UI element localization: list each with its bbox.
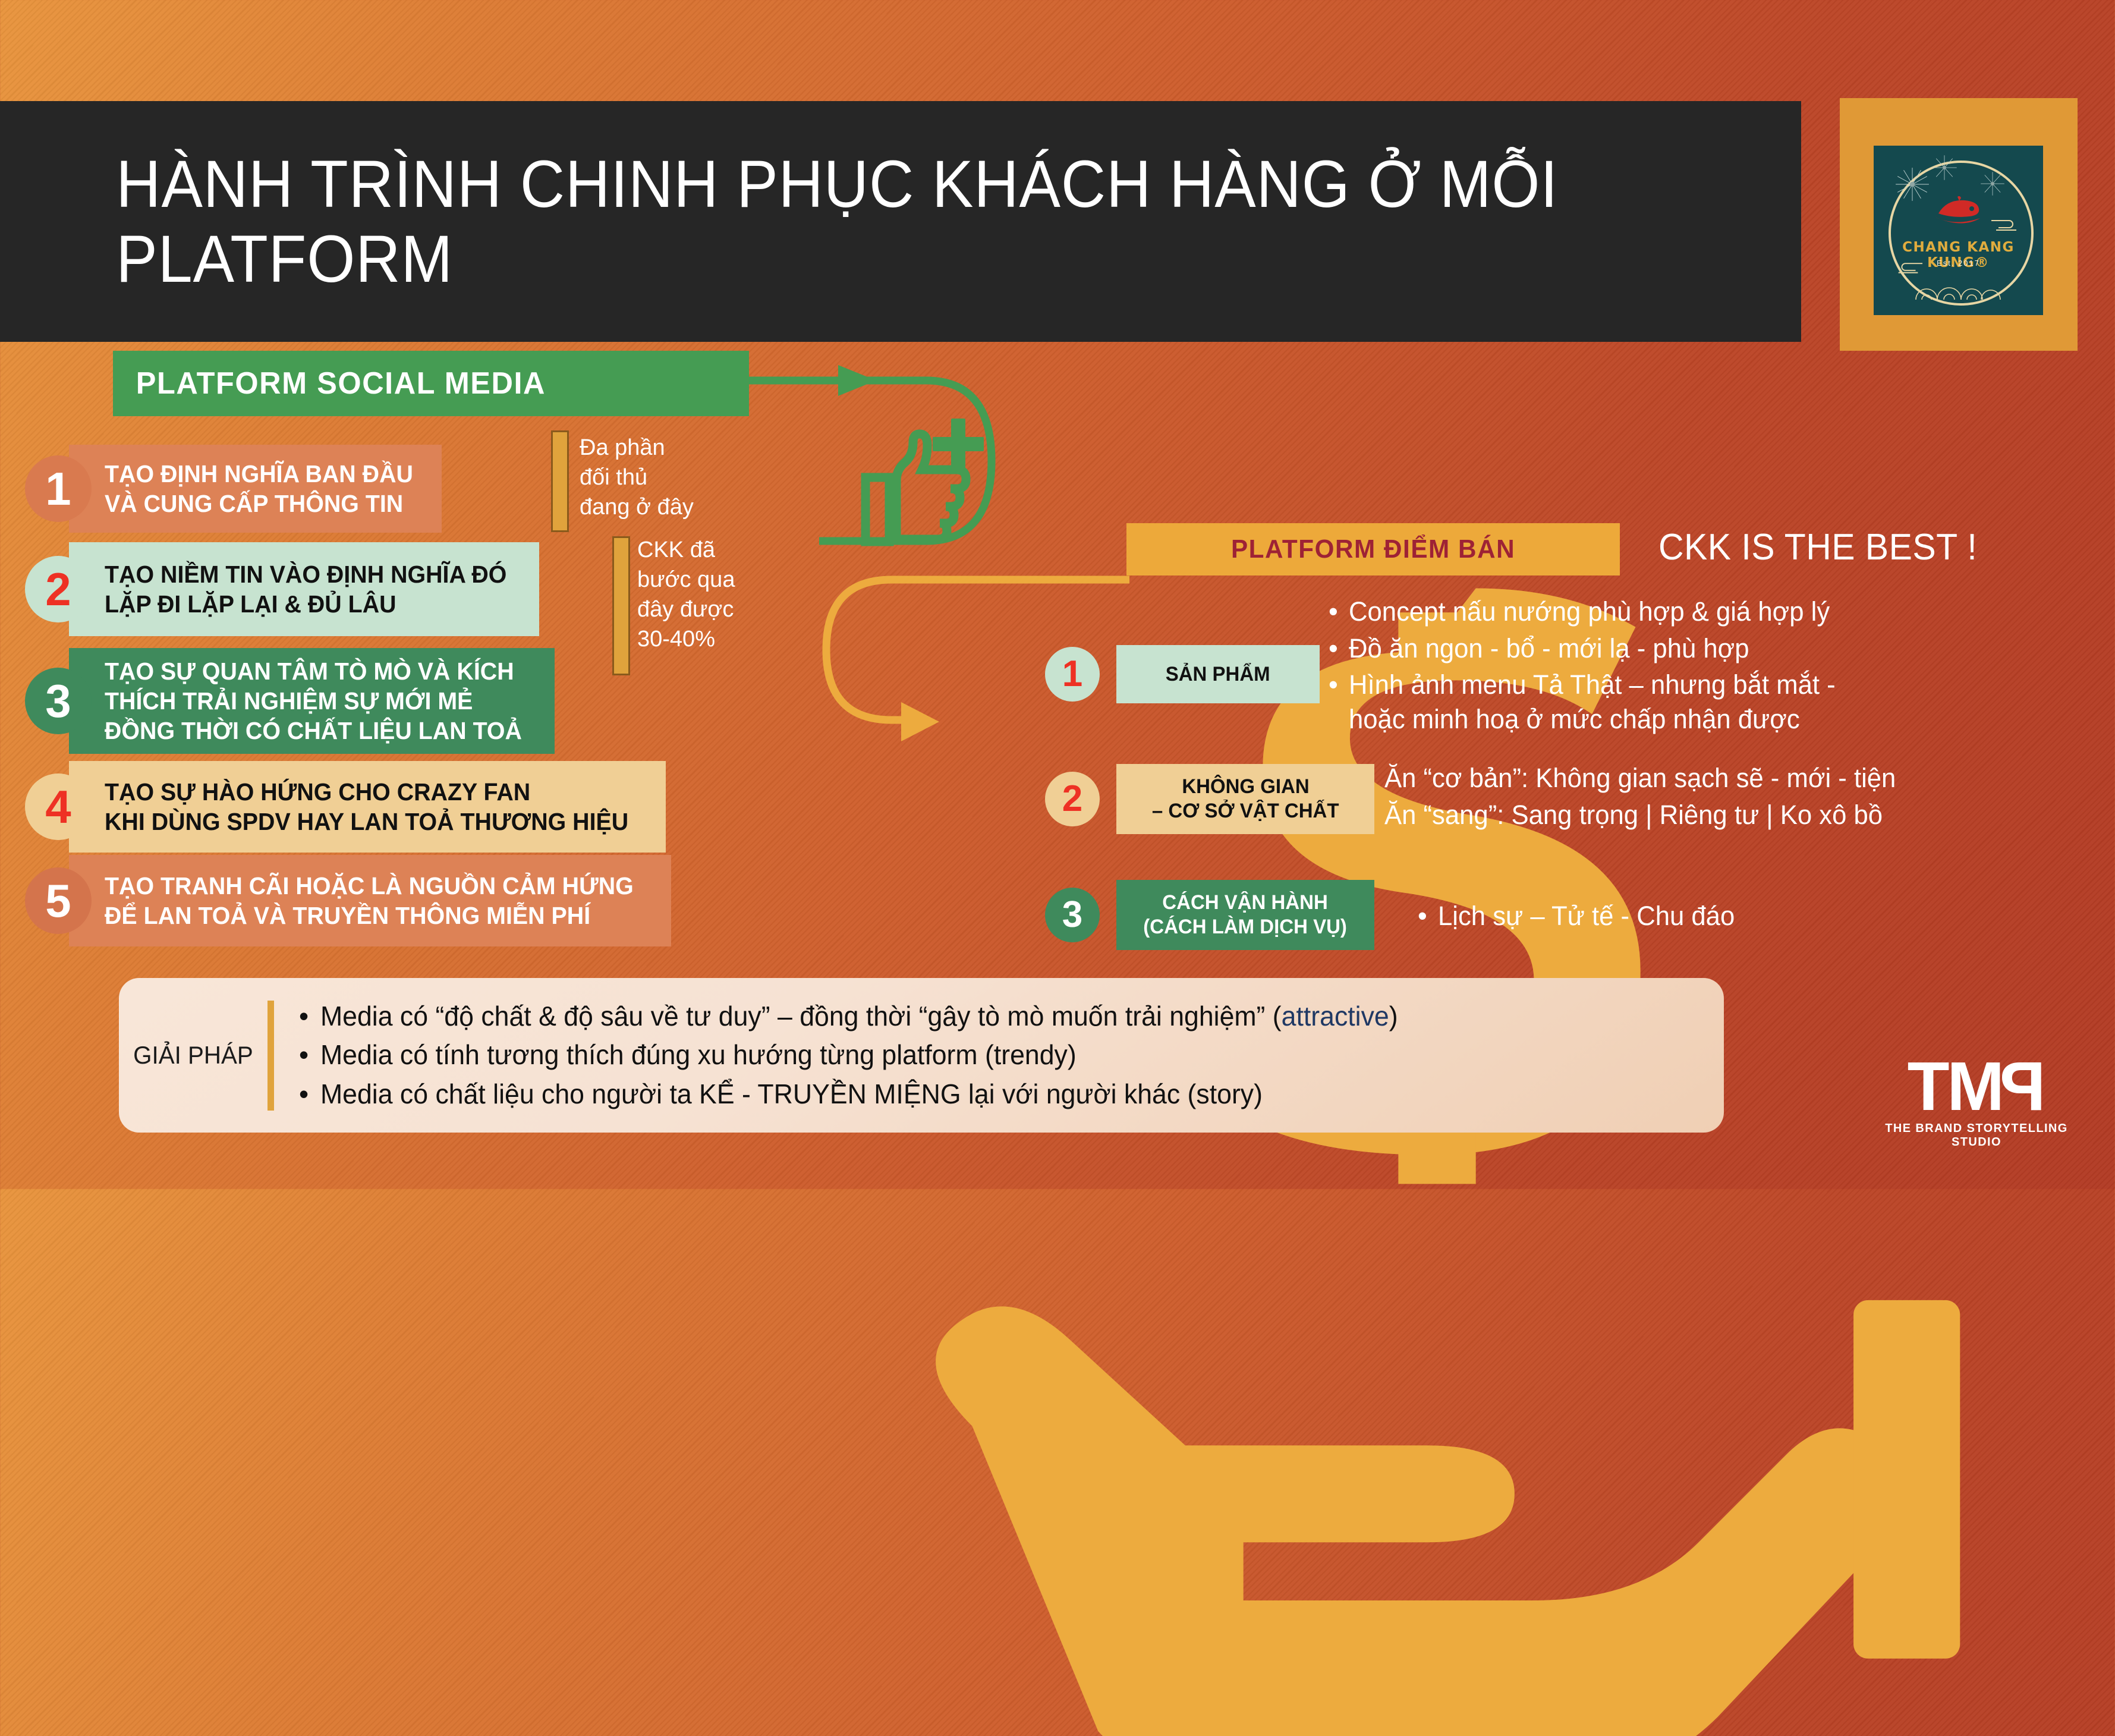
sell-step-2-box: KHÔNG GIAN – CƠ SỞ VẬT CHẤT xyxy=(1116,764,1374,834)
sell-step-3-line-2: (CÁCH LÀM DỊCH VỤ) xyxy=(1144,915,1348,939)
social-step-4-line-2: KHI DÙNG SPDV HAY LAN TOẢ THƯƠNG HIỆU xyxy=(105,807,628,836)
social-step-3-line-3: ĐỒNG THỜI CÓ CHẤT LIỆU LAN TOẢ xyxy=(105,716,522,746)
social-step-4-box: TẠO SỰ HÀO HỨNG CHO CRAZY FAN KHI DÙNG S… xyxy=(69,761,666,853)
social-step-5-line-2: ĐỂ LAN TOẢ VÀ TRUYỀN THÔNG MIỄN PHÍ xyxy=(105,901,634,930)
sell-step-2-line-2: – CƠ SỞ VẬT CHẤT xyxy=(1152,799,1339,823)
sell-step-1[interactable]: 1 SẢN PHẨM xyxy=(1045,645,1320,703)
bullet-dot-icon: • xyxy=(1329,631,1349,666)
list-item: • Đồ ăn ngon - bổ - mới lạ - phù hợp xyxy=(1329,631,1850,666)
firework-burst-icon xyxy=(1894,166,1931,203)
social-step-3-line-2: THÍCH TRẢI NGHIỆM SỰ MỚI MẺ xyxy=(105,686,522,716)
social-step-5-badge: 5 xyxy=(25,867,92,934)
list-item: • Ăn “cơ bản”: Không gian sạch sẽ - mới … xyxy=(1364,761,1912,795)
solution-panel: GIẢI PHÁP • Media có “độ chất & độ sâu v… xyxy=(119,978,1724,1133)
social-step-3[interactable]: 3 TẠO SỰ QUAN TÂM TÒ MÒ VÀ KÍCH THÍCH TR… xyxy=(25,648,555,754)
social-step-4-line-1: TẠO SỰ HÀO HỨNG CHO CRAZY FAN xyxy=(105,777,628,807)
solution-bullet-1-post: ) xyxy=(1389,1001,1398,1031)
note-bar-1 xyxy=(551,430,569,532)
sell-step-2-line-1: KHÔNG GIAN xyxy=(1182,775,1309,799)
sell-step-2[interactable]: 2 KHÔNG GIAN – CƠ SỞ VẬT CHẤT xyxy=(1045,764,1374,834)
solution-bullet-3-text: Media có chất liệu cho người ta KỂ - TRU… xyxy=(320,1078,1263,1109)
note-bar-2 xyxy=(612,536,630,675)
list-item: • Ăn “sang”: Sang trọng | Riêng tư | Ko … xyxy=(1364,798,1912,832)
social-step-1-line-1: TẠO ĐỊNH NGHĨA BAN ĐẦU xyxy=(105,459,413,489)
fish-dish-icon xyxy=(1933,196,1985,229)
sell-step-1-badge: 1 xyxy=(1045,647,1100,702)
social-step-2[interactable]: 2 TẠO NIỀM TIN VÀO ĐỊNH NGHĨA ĐÓ LẶP ĐI … xyxy=(25,542,539,636)
cloud-motif-icon xyxy=(1893,259,1924,275)
sell-bullets-service: • Lịch sự – Tử tế - Chu đáo xyxy=(1418,899,1744,936)
note-text-2: CKK đã bước qua đây được 30-40% xyxy=(637,535,792,655)
solution-label: GIẢI PHÁP xyxy=(122,1041,265,1070)
sell-bullets-product: • Concept nấu nướng phù hợp & giá hợp lý… xyxy=(1329,595,1850,738)
list-item: • Media có chất liệu cho người ta KỂ - T… xyxy=(299,1075,1431,1114)
social-step-2-badge: 2 xyxy=(25,556,92,622)
social-step-1-line-2: VÀ CUNG CẤP THÔNG TIN xyxy=(105,489,413,518)
studio-logo-mark-right: P xyxy=(2002,1055,2045,1117)
solution-bullet-1-text: Media có “độ chất & độ sâu về tư duy” – … xyxy=(320,1001,1282,1031)
social-step-5[interactable]: 5 TẠO TRANH CÃI HOẶC LÀ NGUỒN CẢM HỨNG Đ… xyxy=(25,855,671,946)
sell-platform-tagline: CKK IS THE BEST ! xyxy=(1658,526,1977,568)
list-item: • Media có “độ chất & độ sâu về tư duy” … xyxy=(299,997,1431,1036)
list-item: • Concept nấu nướng phù hợp & giá hợp lý xyxy=(1329,595,1850,629)
list-item: • Hình ảnh menu Tả Thật – nhưng bắt mắt … xyxy=(1329,668,1850,736)
money-hand-icon xyxy=(856,574,2115,1736)
brand-logo-tile: CHANG KANG KUNG® Est. 2017 xyxy=(1874,146,2043,315)
wave-pattern-icon xyxy=(1911,273,2006,300)
social-step-4-badge: 4 xyxy=(25,773,92,840)
thumbs-up-plus-icon xyxy=(819,410,1015,565)
social-step-5-box: TẠO TRANH CÃI HOẶC LÀ NGUỒN CẢM HỨNG ĐỂ … xyxy=(69,855,671,946)
list-item: • Media có tính tương thích đúng xu hướn… xyxy=(299,1036,1431,1074)
social-platform-header: PLATFORM SOCIAL MEDIA xyxy=(113,351,749,416)
studio-logo-mark: TMP xyxy=(1861,1055,2092,1117)
bullet-dot-icon: • xyxy=(1329,595,1349,629)
bullet-dot-icon: • xyxy=(299,997,320,1036)
social-step-3-box: TẠO SỰ QUAN TÂM TÒ MÒ VÀ KÍCH THÍCH TRẢI… xyxy=(69,648,555,754)
social-step-4[interactable]: 4 TẠO SỰ HÀO HỨNG CHO CRAZY FAN KHI DÙNG… xyxy=(25,761,666,853)
social-step-1-badge: 1 xyxy=(25,455,92,522)
list-item: • Lịch sự – Tử tế - Chu đáo xyxy=(1418,899,1744,933)
sell-step-3[interactable]: 3 CÁCH VẬN HÀNH (CÁCH LÀM DỊCH VỤ) xyxy=(1045,880,1374,950)
sell-step-2-badge: 2 xyxy=(1045,772,1100,826)
solution-bullet-1-accent: attractive xyxy=(1282,1001,1389,1031)
sell-step-1-box: SẢN PHẨM xyxy=(1116,645,1320,703)
social-step-3-badge: 3 xyxy=(25,668,92,734)
bullet-dot-icon: • xyxy=(299,1036,320,1074)
sell-step-3-badge: 3 xyxy=(1045,888,1100,942)
firework-burst-icon xyxy=(1931,154,1958,181)
solution-list: • Media có “độ chất & độ sâu về tư duy” … xyxy=(274,997,1431,1114)
solution-divider xyxy=(267,1001,274,1111)
social-step-2-box: TẠO NIỀM TIN VÀO ĐỊNH NGHĨA ĐÓ LẶP ĐI LẶ… xyxy=(69,542,539,636)
bullet-dot-icon: • xyxy=(299,1075,320,1114)
social-platform-header-label: PLATFORM SOCIAL MEDIA xyxy=(113,366,546,401)
firework-burst-icon xyxy=(1979,171,2006,197)
brand-logo: CHANG KANG KUNG® Est. 2017 xyxy=(1840,98,2078,351)
social-step-1-box: TẠO ĐỊNH NGHĨA BAN ĐẦU VÀ CUNG CẤP THÔNG… xyxy=(69,445,442,533)
sell-step-1-line-1: SẢN PHẨM xyxy=(1166,662,1270,687)
solution-bullet-2-text: Media có tính tương thích đúng xu hướng … xyxy=(320,1039,1077,1070)
page-title: HÀNH TRÌNH CHINH PHỤC KHÁCH HÀNG Ở MỖI P… xyxy=(0,147,1591,296)
social-step-1[interactable]: 1 TẠO ĐỊNH NGHĨA BAN ĐẦU VÀ CUNG CẤP THÔ… xyxy=(25,445,442,533)
sell-platform-header: PLATFORM ĐIỂM BÁN xyxy=(1126,523,1620,575)
slide-canvas: HÀNH TRÌNH CHINH PHỤC KHÁCH HÀNG Ở MỖI P… xyxy=(0,0,2115,1189)
sell-bullets-space: • Ăn “cơ bản”: Không gian sạch sẽ - mới … xyxy=(1364,761,1912,834)
sell-platform-header-label: PLATFORM ĐIỂM BÁN xyxy=(1231,534,1515,564)
cloud-motif-icon xyxy=(1990,216,2022,232)
social-step-3-line-1: TẠO SỰ QUAN TÂM TÒ MÒ VÀ KÍCH xyxy=(105,656,522,686)
social-step-2-line-2: LẶP ĐI LẶP LẠI & ĐỦ LÂU xyxy=(105,589,506,619)
studio-logo: TMP THE BRAND STORYTELLING STUDIO xyxy=(1861,1055,2092,1149)
social-step-2-line-1: TẠO NIỀM TIN VÀO ĐỊNH NGHĨA ĐÓ xyxy=(105,559,506,589)
sell-step-3-line-1: CÁCH VẬN HÀNH xyxy=(1163,891,1328,915)
studio-logo-tagline: THE BRAND STORYTELLING STUDIO xyxy=(1861,1122,2092,1149)
bullet-dot-icon: • xyxy=(1418,899,1438,933)
studio-logo-mark-left: TM xyxy=(1908,1048,2003,1125)
title-bar: HÀNH TRÌNH CHINH PHỤC KHÁCH HÀNG Ở MỖI P… xyxy=(0,101,1801,342)
sell-step-3-box: CÁCH VẬN HÀNH (CÁCH LÀM DỊCH VỤ) xyxy=(1116,880,1374,950)
bullet-dot-icon: • xyxy=(1329,668,1349,736)
social-step-5-line-1: TẠO TRANH CÃI HOẶC LÀ NGUỒN CẢM HỨNG xyxy=(105,871,634,901)
note-text-1: Đa phần đối thủ đang ở đây xyxy=(580,433,740,522)
